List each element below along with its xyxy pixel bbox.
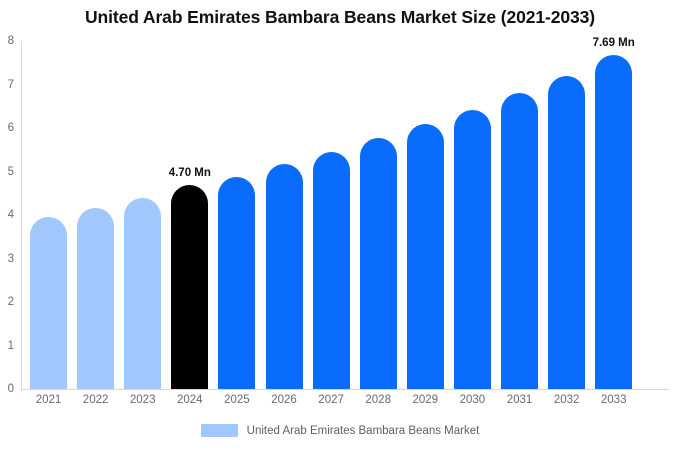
- x-axis-tick-label-2033: 2033: [595, 394, 632, 406]
- y-axis-tick-label: 0: [8, 383, 14, 395]
- bar-2030[interactable]: [454, 110, 491, 389]
- bar-rect-2032[interactable]: [548, 76, 585, 389]
- legend-label: United Arab Emirates Bambara Beans Marke…: [247, 425, 480, 437]
- bar-2024[interactable]: 4.70 Mn: [171, 185, 208, 389]
- x-axis-tick-label-2031: 2031: [501, 394, 538, 406]
- y-axis-tick-label: 8: [8, 35, 14, 47]
- bar-rect-2022[interactable]: [77, 208, 114, 389]
- x-axis-tick-label-2024: 2024: [171, 394, 208, 406]
- legend-swatch: [201, 424, 238, 437]
- bar-2027[interactable]: [313, 152, 350, 389]
- y-axis-tick-label: 1: [8, 340, 14, 352]
- bar-value-label-2033: 7.69 Mn: [593, 37, 635, 49]
- bar-rect-2027[interactable]: [313, 152, 350, 389]
- x-axis-tick-label-2030: 2030: [454, 394, 491, 406]
- bar-rect-2028[interactable]: [360, 138, 397, 389]
- chart-title: United Arab Emirates Bambara Beans Marke…: [0, 7, 680, 28]
- x-axis-line: [21, 389, 669, 390]
- x-axis-tick-label-2022: 2022: [77, 394, 114, 406]
- bar-rect-2023[interactable]: [124, 198, 161, 389]
- bar-2033[interactable]: 7.69 Mn: [595, 55, 632, 390]
- bar-rect-2030[interactable]: [454, 110, 491, 389]
- bar-rect-2025[interactable]: [218, 177, 255, 389]
- chart-legend: United Arab Emirates Bambara Beans Marke…: [0, 424, 680, 437]
- x-axis-tick-label-2023: 2023: [124, 394, 161, 406]
- bar-rect-2021[interactable]: [30, 217, 67, 389]
- bar-rect-2026[interactable]: [266, 164, 303, 389]
- y-axis-tick-label: 6: [8, 122, 14, 134]
- x-axis-tick-label-2029: 2029: [407, 394, 444, 406]
- bar-rect-2024[interactable]: [171, 185, 208, 389]
- bar-rect-2029[interactable]: [407, 124, 444, 389]
- y-axis-tick-label: 5: [8, 166, 14, 178]
- x-axis-tick-label-2028: 2028: [360, 394, 397, 406]
- x-axis-tick-label-2025: 2025: [218, 394, 255, 406]
- y-axis-tick-label: 4: [8, 209, 14, 221]
- bar-2026[interactable]: [266, 164, 303, 389]
- bar-2022[interactable]: [77, 208, 114, 389]
- bar-2025[interactable]: [218, 177, 255, 389]
- bar-rect-2033[interactable]: [595, 55, 632, 390]
- x-axis-tick-label-2027: 2027: [313, 394, 350, 406]
- bar-2029[interactable]: [407, 124, 444, 389]
- x-axis-tick-label-2026: 2026: [266, 394, 303, 406]
- x-axis-tick-label-2021: 2021: [30, 394, 67, 406]
- y-axis-tick-label: 7: [8, 79, 14, 91]
- bar-2023[interactable]: [124, 198, 161, 389]
- y-axis-tick-label: 3: [8, 253, 14, 265]
- bar-value-label-2024: 4.70 Mn: [169, 167, 211, 179]
- bar-2028[interactable]: [360, 138, 397, 389]
- bar-2031[interactable]: [501, 93, 538, 389]
- bar-2021[interactable]: [30, 217, 67, 389]
- bar-2032[interactable]: [548, 76, 585, 389]
- plot-area: 012345678 4.70 Mn7.69 Mn: [21, 41, 669, 389]
- y-axis-tick-label: 2: [8, 296, 14, 308]
- bar-rect-2031[interactable]: [501, 93, 538, 389]
- x-axis-tick-label-2032: 2032: [548, 394, 585, 406]
- bar-chart: United Arab Emirates Bambara Beans Marke…: [0, 0, 680, 450]
